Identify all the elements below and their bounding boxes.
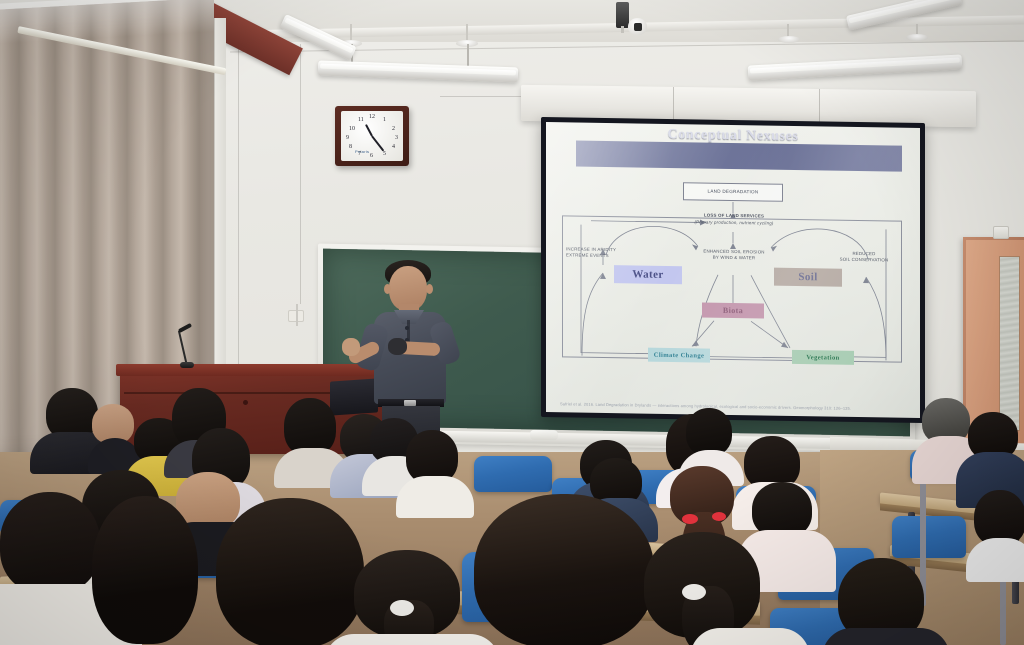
eraser[interactable] — [530, 430, 558, 440]
clock-numeral: 11 — [358, 117, 364, 123]
diagram-chip-biota: Biota — [702, 303, 764, 319]
security-camera-housing — [616, 2, 629, 28]
audience-member — [828, 558, 948, 645]
diagram-label-increase-aridity: INCREASE IN ARIDITY EXTREME EVENTS — [566, 246, 638, 258]
presenter-right-hand — [388, 338, 407, 355]
projection-screen: Conceptual Nexuses — [541, 117, 925, 423]
diagram-chip-soil: Soil — [774, 268, 842, 287]
clock-numeral: 5 — [383, 151, 386, 157]
clock-numeral: 8 — [349, 144, 352, 150]
light-switch[interactable] — [993, 226, 1009, 239]
hair-tie — [682, 584, 706, 600]
clock-numeral: 6 — [370, 153, 373, 159]
clock-face: 12 1 2 3 4 5 6 7 8 9 10 11 Polaris — [341, 111, 403, 161]
chair-back[interactable] — [892, 516, 966, 558]
audience-member — [962, 412, 1024, 498]
clock-numeral: 4 — [392, 144, 395, 150]
presenter-left-hand — [342, 338, 360, 356]
clock-numeral: 3 — [395, 135, 398, 141]
security-camera-mount — [621, 26, 624, 33]
microphone-base — [180, 362, 194, 368]
clock-minute-hand — [371, 135, 384, 151]
torso — [966, 538, 1024, 582]
wall-seam — [440, 96, 530, 97]
slide-content: Conceptual Nexuses — [546, 122, 920, 418]
clock-numeral: 2 — [392, 126, 395, 132]
clock-numeral: 12 — [369, 114, 375, 120]
classroom-photo-scene: 12 1 2 3 4 5 6 7 8 9 10 11 Polaris — [0, 0, 1024, 645]
head — [686, 408, 732, 456]
door-glass-panel — [999, 256, 1020, 431]
chair-back[interactable] — [474, 456, 552, 492]
diagram-chip-climate-change: Climate Change — [648, 348, 710, 363]
hair-tie — [390, 600, 414, 616]
clock-numeral: 9 — [346, 135, 349, 141]
torso — [690, 628, 810, 645]
diagram-label-enhanced-soil-erosion: ENHANCED SOIL EROSION BY WIND & WATER — [686, 248, 782, 261]
torso — [822, 628, 950, 645]
audience-member — [280, 398, 342, 476]
light-cable-cap — [778, 36, 800, 43]
wall-seam-vertical — [238, 40, 239, 420]
presenter-ear — [384, 284, 391, 294]
projection-surface: Conceptual Nexuses — [546, 122, 920, 418]
diagram-outer-frame — [562, 215, 902, 362]
diagram-node-land-degradation: LAND DEGRADATION — [683, 182, 783, 202]
clock-numeral: 1 — [383, 117, 386, 123]
head — [92, 496, 198, 644]
hair-tie — [712, 512, 726, 521]
camera-lens-icon — [634, 23, 642, 31]
wall-clock: 12 1 2 3 4 5 6 7 8 9 10 11 Polaris — [335, 106, 409, 166]
clock-brand-label: Polaris — [355, 149, 369, 154]
audience-member — [620, 532, 800, 645]
presenter-shirt-button — [405, 326, 409, 330]
lectern-knob[interactable] — [243, 400, 248, 405]
audience-member — [972, 490, 1024, 570]
diagram-chip-water: Water — [614, 265, 682, 284]
diagram-chip-vegetation: Vegetation — [792, 350, 854, 365]
audience-member — [402, 430, 464, 502]
presenter-ear — [426, 284, 433, 294]
diagram-label-reduced-soil-conservation: REDUCED SOIL CONSERVATION — [826, 250, 902, 262]
wall-cable — [296, 304, 298, 326]
clock-numeral: 10 — [349, 126, 355, 132]
wall-seam-vertical — [300, 44, 301, 304]
light-cable-cap — [906, 34, 928, 41]
